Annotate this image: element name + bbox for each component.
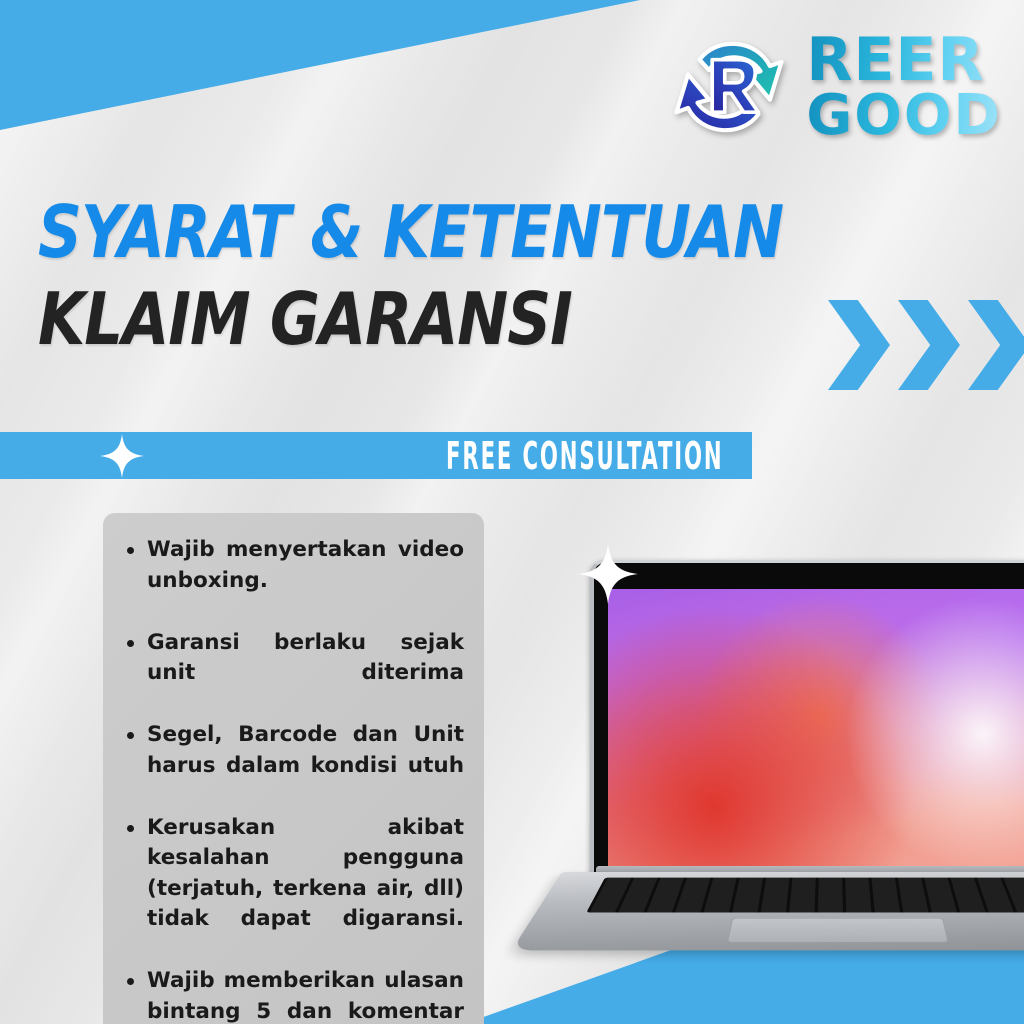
- chevron-decoration-group: [828, 300, 1024, 390]
- list-item-text: Garansi berlaku sejak unit diterima: [147, 628, 464, 720]
- corner-accent-top-left: [0, 0, 640, 130]
- list-item: Garansi berlaku sejak unit diterima: [121, 628, 464, 720]
- list-item-text: Wajib menyertakan video unboxing.: [147, 535, 464, 627]
- brand-name-line2: GOOD: [806, 90, 1002, 142]
- laptop-screen-wallpaper: [608, 589, 1024, 868]
- list-item-text: Wajib memberikan ulasan bintang 5 dan ko…: [147, 966, 464, 1024]
- laptop-keyboard: [586, 878, 1024, 913]
- banner-label: FREE CONSULTATION: [447, 434, 724, 478]
- laptop-product-image: [562, 560, 1024, 980]
- chevron-right-icon: [898, 300, 960, 390]
- brand-logo[interactable]: REER GOOD: [666, 24, 1002, 150]
- poster-canvas: REER GOOD SYARAT & KETENTUAN KLAIM GARAN…: [0, 0, 1024, 1024]
- list-item-text: Segel, Barcode dan Unit harus dalam kond…: [147, 720, 464, 812]
- chevron-right-icon: [968, 300, 1024, 390]
- laptop-lid: [590, 560, 1024, 880]
- brand-wordmark: REER GOOD: [806, 33, 1002, 142]
- brand-name-line1: REER: [806, 33, 1002, 88]
- list-item-text: Kerusakan akibat kesalahan pengguna (ter…: [147, 813, 464, 966]
- laptop-trackpad: [727, 918, 949, 943]
- list-item: Wajib memberikan ulasan bintang 5 dan ko…: [121, 966, 464, 1024]
- four-point-sparkle-icon: [578, 544, 638, 604]
- terms-card: Wajib menyertakan video unboxing. Garans…: [103, 513, 484, 1024]
- list-item: Wajib menyertakan video unboxing.: [121, 535, 464, 627]
- page-title: SYARAT & KETENTUAN KLAIM GARANSI: [38, 196, 831, 357]
- page-title-line1: SYARAT & KETENTUAN: [38, 196, 783, 269]
- terms-list: Wajib menyertakan video unboxing. Garans…: [121, 535, 464, 1024]
- recycle-arrows-r-logo-icon: [666, 24, 792, 150]
- chevron-right-icon: [828, 300, 890, 390]
- laptop-base: [511, 872, 1024, 950]
- page-title-line2: KLAIM GARANSI: [38, 283, 783, 356]
- free-consultation-banner: FREE CONSULTATION: [0, 432, 752, 479]
- list-item: Segel, Barcode dan Unit harus dalam kond…: [121, 720, 464, 812]
- list-item: Kerusakan akibat kesalahan pengguna (ter…: [121, 813, 464, 966]
- four-point-sparkle-icon: [100, 434, 144, 478]
